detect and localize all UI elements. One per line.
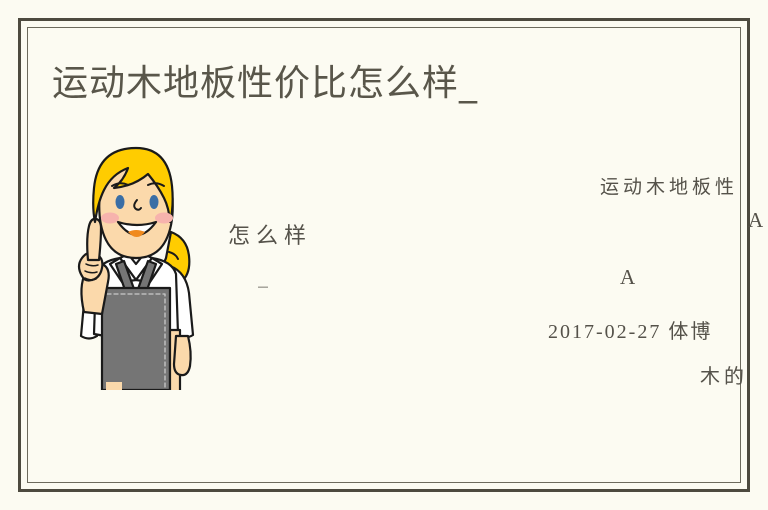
right-text-line-1: 运动木地板性 <box>600 172 738 199</box>
right-text-line-3: A <box>620 265 635 290</box>
middle-text-line-2: _ <box>258 264 270 288</box>
right-text-date: 2017-02-27 体博 <box>548 315 712 344</box>
page-title: 运动木地板性价比怎么样_ <box>52 62 478 106</box>
girl-illustration <box>58 140 218 390</box>
right-text-line-2: A <box>748 208 763 233</box>
article-thumbnail-canvas: 运动木地板性价比怎么样_ <box>0 0 768 510</box>
right-text-line-5: 木的 <box>700 360 748 389</box>
middle-text-line-1: 怎么样 <box>228 218 312 250</box>
